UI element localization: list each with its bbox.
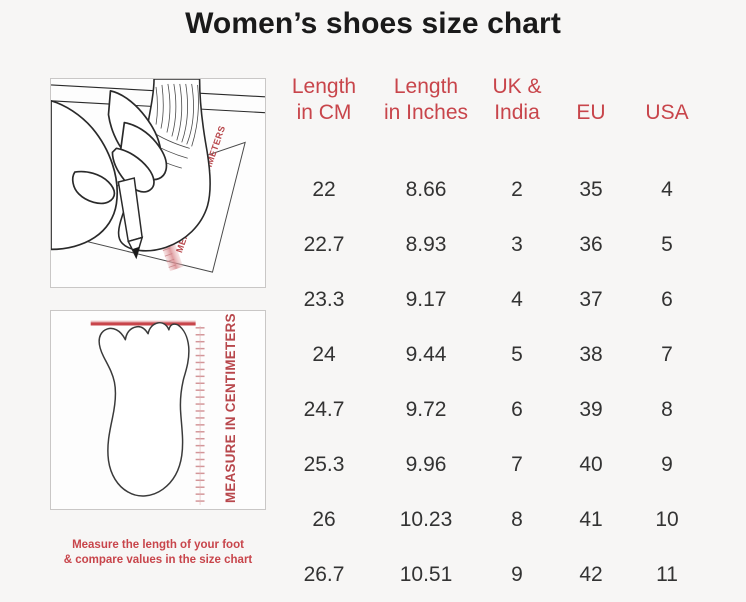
red-measure-line	[91, 321, 196, 324]
cell-uk-india: 6	[480, 382, 554, 437]
illustration-column: MEASURE IN CENTIMETERS	[50, 78, 266, 510]
bottom-ruler-label: MEASURE IN CENTIMETERS	[223, 313, 238, 503]
table-row: 23.3 9.17 4 37 6	[276, 272, 706, 327]
column-header-line1: Length	[276, 74, 372, 100]
cell-eu: 35	[554, 162, 628, 217]
column-header-line2: India	[480, 100, 554, 126]
table-row: 24 9.44 5 38 7	[276, 327, 706, 382]
cell-length-inches: 9.96	[372, 437, 480, 492]
measure-caption: Measure the length of your foot & compar…	[50, 538, 266, 568]
hand-tracing-foot-drawing: MEASURE IN CENTIMETERS	[51, 79, 265, 287]
cell-usa: 4	[628, 162, 706, 217]
column-header-line1: UK &	[480, 74, 554, 100]
column-header-length-inches: Length in Inches	[372, 68, 480, 162]
cell-length-inches: 9.72	[372, 382, 480, 437]
cell-length-inches: 8.93	[372, 217, 480, 272]
cell-uk-india: 7	[480, 437, 554, 492]
foot-outline-drawing: MEASURE IN CENTIMETERS	[51, 311, 265, 509]
table-row: 25.3 9.96 7 40 9	[276, 437, 706, 492]
table-row: 26.7 10.51 9 42 11	[276, 547, 706, 602]
cell-length-cm: 24	[276, 327, 372, 382]
illustration-hand-tracing-foot: MEASURE IN CENTIMETERS	[50, 78, 266, 288]
cell-length-cm: 24.7	[276, 382, 372, 437]
cell-length-cm: 25.3	[276, 437, 372, 492]
cell-length-inches: 10.51	[372, 547, 480, 602]
cell-eu: 42	[554, 547, 628, 602]
table-row: 22 8.66 2 35 4	[276, 162, 706, 217]
column-header-line1: EU	[554, 100, 628, 126]
measure-caption-line1: Measure the length of your foot	[50, 538, 266, 553]
table-body: 22 8.66 2 35 4 22.7 8.93 3 36 5 23.3 9.1…	[276, 162, 706, 602]
cell-usa: 6	[628, 272, 706, 327]
cell-eu: 37	[554, 272, 628, 327]
column-header-length-cm: Length in CM	[276, 68, 372, 162]
table-row: 26 10.23 8 41 10	[276, 492, 706, 547]
table-header: Length in CM Length in Inches UK & India…	[276, 68, 706, 162]
cell-length-inches: 10.23	[372, 492, 480, 547]
cell-length-cm: 26.7	[276, 547, 372, 602]
cell-usa: 10	[628, 492, 706, 547]
cell-length-inches: 9.17	[372, 272, 480, 327]
cell-usa: 5	[628, 217, 706, 272]
cell-uk-india: 8	[480, 492, 554, 547]
cell-length-cm: 26	[276, 492, 372, 547]
column-header-line2: in CM	[276, 100, 372, 126]
cell-length-cm: 22.7	[276, 217, 372, 272]
cell-uk-india: 3	[480, 217, 554, 272]
column-header-line2: in Inches	[372, 100, 480, 126]
cell-usa: 7	[628, 327, 706, 382]
cell-uk-india: 5	[480, 327, 554, 382]
cell-eu: 39	[554, 382, 628, 437]
page-title: Women’s shoes size chart	[0, 7, 746, 41]
size-chart-page: Women’s shoes size chart	[0, 0, 746, 585]
cell-length-cm: 22	[276, 162, 372, 217]
table-row: 22.7 8.93 3 36 5	[276, 217, 706, 272]
cell-uk-india: 4	[480, 272, 554, 327]
illustration-foot-outline: MEASURE IN CENTIMETERS	[50, 310, 266, 510]
cell-eu: 40	[554, 437, 628, 492]
column-header-line1: USA	[628, 100, 706, 126]
table-row: 24.7 9.72 6 39 8	[276, 382, 706, 437]
cell-uk-india: 9	[480, 547, 554, 602]
column-header-uk-india: UK & India	[480, 68, 554, 162]
column-header-line1: Length	[372, 74, 480, 100]
cell-usa: 11	[628, 547, 706, 602]
cell-length-inches: 9.44	[372, 327, 480, 382]
cell-uk-india: 2	[480, 162, 554, 217]
cell-usa: 8	[628, 382, 706, 437]
column-header-usa: USA	[628, 68, 706, 162]
column-header-eu: EU	[554, 68, 628, 162]
table-header-row: Length in CM Length in Inches UK & India…	[276, 68, 706, 162]
size-chart-table: Length in CM Length in Inches UK & India…	[276, 68, 706, 602]
cell-eu: 41	[554, 492, 628, 547]
cell-length-inches: 8.66	[372, 162, 480, 217]
cell-eu: 38	[554, 327, 628, 382]
cell-length-cm: 23.3	[276, 272, 372, 327]
cell-usa: 9	[628, 437, 706, 492]
cell-eu: 36	[554, 217, 628, 272]
measure-caption-line2: & compare values in the size chart	[50, 553, 266, 568]
